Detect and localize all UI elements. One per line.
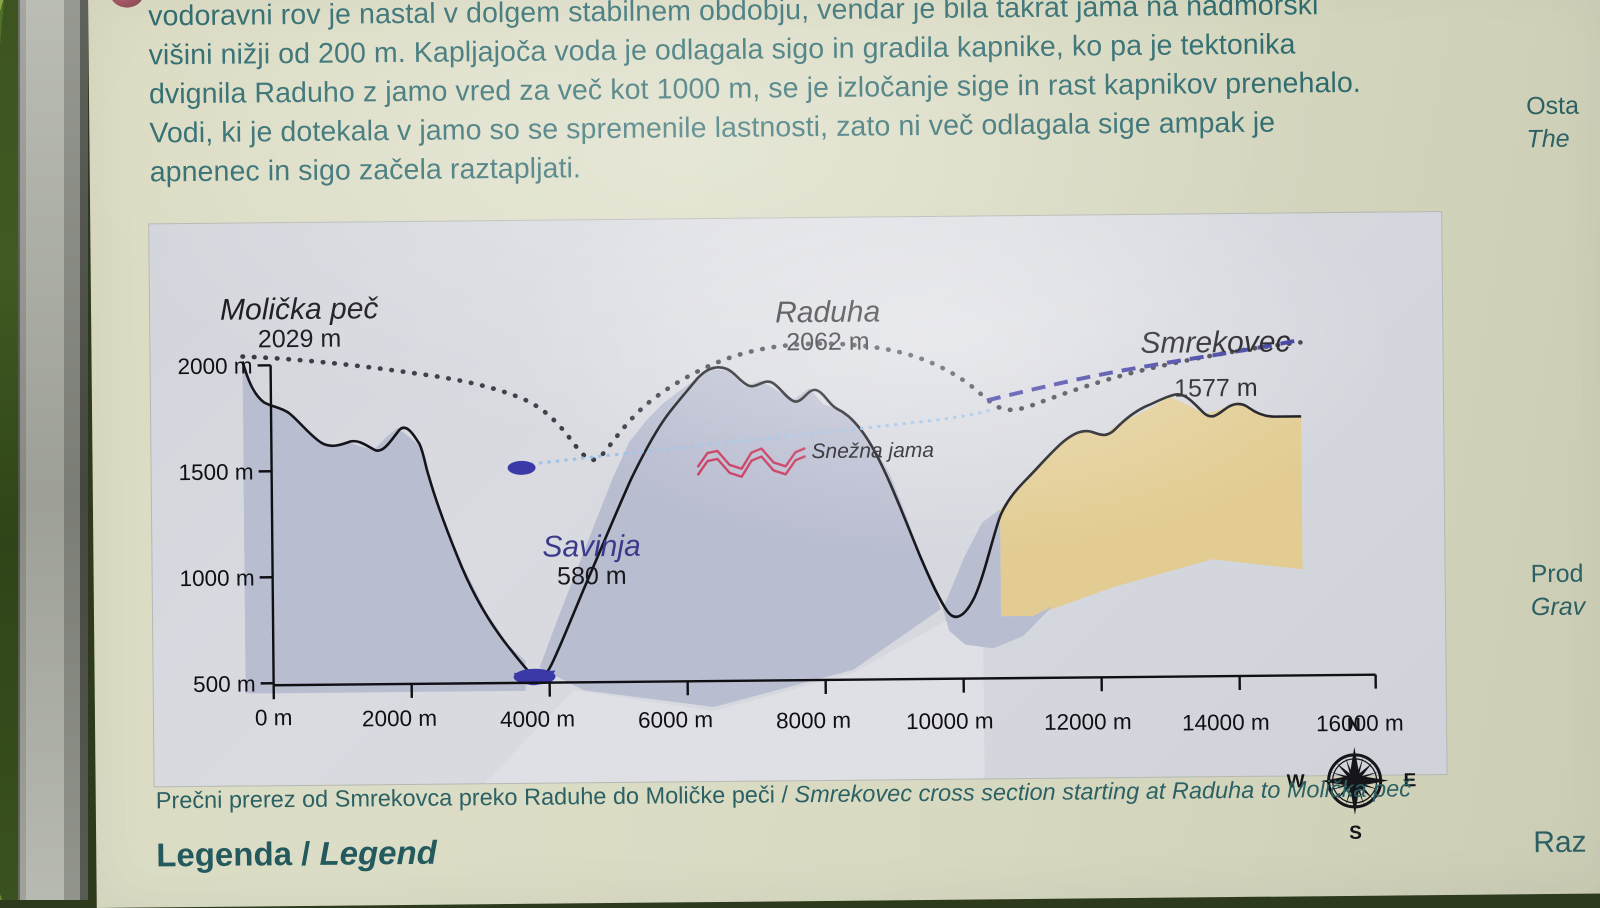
x-tick-label-0: 0 m bbox=[255, 705, 293, 731]
caption-separator: / bbox=[775, 781, 795, 807]
right-column-entry-3: Raz bbox=[1533, 826, 1587, 860]
x-tick-label-2000: 2000 m bbox=[362, 706, 437, 733]
legend-heading-en: Legend bbox=[319, 834, 437, 872]
caption-sl: Prečni prerez od Smrekovca preko Raduhe … bbox=[156, 781, 775, 813]
legend-heading-separator: / bbox=[292, 835, 320, 872]
sign-support-post bbox=[18, 0, 88, 900]
red-sticker-icon bbox=[110, 0, 144, 8]
intro-paragraph: vodoravni rov je nastal v dolgem stabiln… bbox=[148, 0, 1450, 192]
x-tick-label-6000: 6000 m bbox=[638, 707, 713, 734]
legend-heading-sl: Legenda bbox=[156, 835, 292, 873]
right-column-label-sl: Osta bbox=[1526, 90, 1579, 124]
y-tick-label-1500: 1500 m bbox=[157, 459, 253, 486]
x-tick-label-8000: 8000 m bbox=[776, 708, 851, 735]
x-tick-label-14000: 14000 m bbox=[1182, 710, 1270, 737]
right-column-label-sl: Prod bbox=[1531, 558, 1586, 592]
smrekovec-volcanic-unit bbox=[999, 395, 1303, 616]
caption-en: Smrekovec cross section starting at Radu… bbox=[794, 775, 1411, 807]
y-tick-label-1000: 1000 m bbox=[159, 565, 255, 592]
cross-section-svg bbox=[149, 212, 1446, 786]
x-tick-label-4000: 4000 m bbox=[500, 706, 575, 733]
compass-south-label: S bbox=[1349, 823, 1362, 845]
sinkhole-water-marker bbox=[508, 461, 536, 475]
y-tick-label-500: 500 m bbox=[160, 671, 256, 698]
y-tick-label-2000: 2000 m bbox=[156, 353, 252, 380]
legend-heading: Legenda / Legend bbox=[156, 834, 437, 875]
right-column-label-sl: Raz bbox=[1533, 826, 1587, 860]
compass-north-label: N bbox=[1347, 715, 1361, 737]
right-column-label-en: The bbox=[1526, 123, 1579, 157]
x-tick-label-12000: 12000 m bbox=[1044, 709, 1132, 736]
cross-section-chart: Molička peč 2029 m Raduha 2062 m Smrekov… bbox=[148, 211, 1447, 787]
right-column-entry-1: Osta The bbox=[1526, 90, 1579, 157]
x-tick-label-10000: 10000 m bbox=[906, 708, 994, 735]
interpretive-sign-panel: vodoravni rov je nastal v dolgem stabiln… bbox=[88, 0, 1600, 908]
right-column-entry-2: Prod Grav bbox=[1531, 558, 1586, 625]
right-column-label-en: Grav bbox=[1531, 591, 1586, 625]
